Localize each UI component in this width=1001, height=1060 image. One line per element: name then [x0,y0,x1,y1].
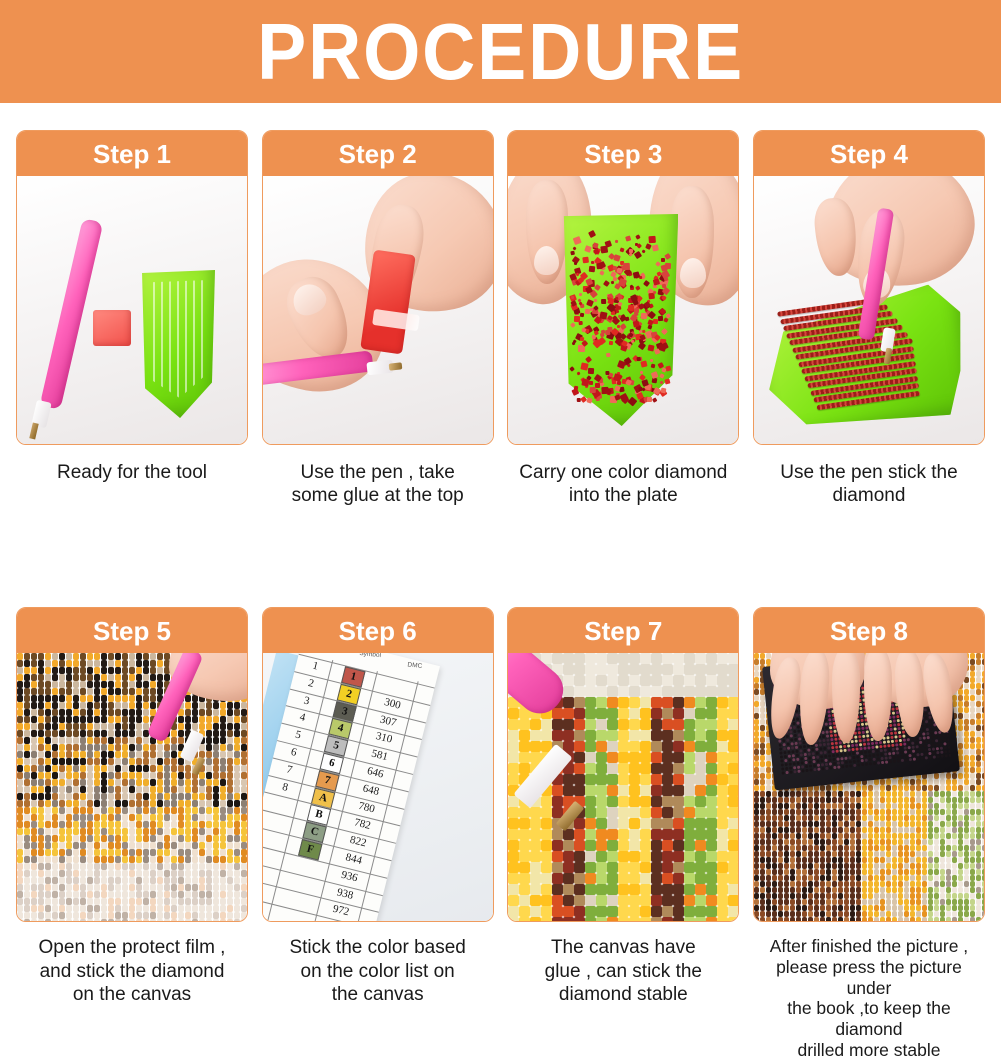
step-3-badge: Step 3 [508,131,738,176]
step-5-badge-label: Step 5 [93,618,171,644]
step-2-card: Step 2 [262,130,494,445]
steps-grid: Step 1 Ready for th [0,103,1001,1060]
red-diamonds-icon [570,230,668,400]
step-5-card: Step 5 [16,607,248,922]
step-3-badge-label: Step 3 [584,141,662,167]
step-card-1: Step 1 Ready for th [16,130,248,507]
step-1-card: Step 1 [16,130,248,445]
step-card-2: Step 2 [262,130,494,507]
page-title: PROCEDURE [257,12,744,92]
step-card-5: Step 5 Open the protect film , and stick… [16,607,248,1060]
step-2-photo [263,176,493,444]
step-7-caption: The canvas have glue , can stick the dia… [507,936,739,1006]
step-8-card: Step 8 [753,607,985,922]
steps-row-1: Step 1 Ready for th [0,130,1001,507]
page-header-banner: PROCEDURE [0,0,1001,103]
step-card-4: Step 4 [753,130,985,507]
step-7-photo [508,653,738,921]
step-4-card: Step 4 [753,130,985,445]
fingernail-icon [288,279,330,320]
step-4-badge-label: Step 4 [830,141,908,167]
step-card-6: Step 6 SortSymbolDMC11223003330744310555… [262,607,494,1060]
step-1-badge: Step 1 [17,131,247,176]
pen-tip-icon [388,362,402,370]
step-4-caption: Use the pen stick the diamond [753,461,985,507]
step-3-photo [508,176,738,444]
step-8-caption: After finished the picture , please pres… [753,936,985,1060]
step-1-caption: Ready for the tool [16,461,248,484]
step-3-caption: Carry one color diamond into the plate [507,461,739,507]
step-6-photo: SortSymbolDMC112230033307443105558166646… [263,653,493,921]
step-7-badge-label: Step 7 [584,618,662,644]
step-6-card: Step 6 SortSymbolDMC11223003330744310555… [262,607,494,922]
step-6-caption: Stick the color based on the color list … [262,936,494,1006]
step-card-7: Step 7 The canvas have glue , can stick … [507,607,739,1060]
step-card-8: Step 8 [753,607,985,1060]
step-5-photo [17,653,247,921]
step-7-badge: Step 7 [508,608,738,653]
step-4-photo [754,176,984,444]
step-8-badge-label: Step 8 [830,618,908,644]
step-card-3: Step 3 Carry one co [507,130,739,507]
steps-row-2: Step 5 Open the protect film , and stick… [0,607,1001,1060]
step-5-badge: Step 5 [17,608,247,653]
step-8-badge: Step 8 [754,608,984,653]
step-6-badge-label: Step 6 [339,618,417,644]
step-4-badge: Step 4 [754,131,984,176]
chart-column-header: DMC [390,660,439,685]
step-2-caption: Use the pen , take some glue at the top [262,461,494,507]
step-1-photo [17,176,247,444]
step-5-caption: Open the protect film , and stick the di… [16,936,248,1006]
step-2-badge: Step 2 [263,131,493,176]
glue-square-icon [93,310,131,346]
step-1-badge-label: Step 1 [93,141,171,167]
step-7-card: Step 7 [507,607,739,922]
step-3-card: Step 3 [507,130,739,445]
step-8-photo [754,653,984,921]
fingernail-icon [534,246,559,275]
fingernail-icon [680,258,706,288]
procedure-infographic: PROCEDURE Step 1 [0,0,1001,1001]
tray-grooves-icon [145,280,209,398]
step-2-badge-label: Step 2 [339,141,417,167]
step-6-badge: Step 6 [263,608,493,653]
